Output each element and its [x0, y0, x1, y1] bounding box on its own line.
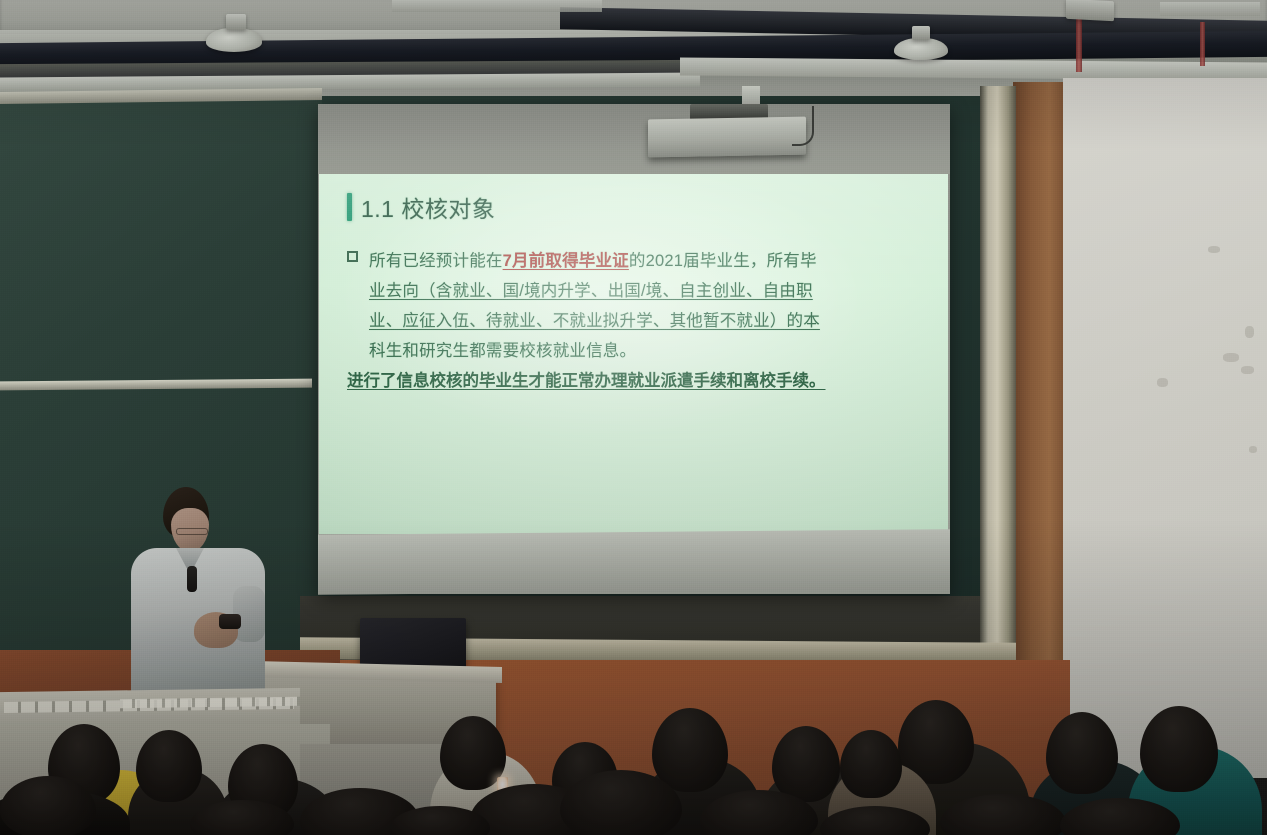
- slide-body-line-2: 业去向（含就业、国/境内升学、出国/境、自主创业、自由职: [347, 276, 925, 306]
- screen-top-band: [318, 104, 950, 174]
- ceiling-lamp-1: [206, 28, 262, 52]
- projection-screen: 1.1 校核对象 所有已经预计能在7月前取得毕业证的2021届毕业生，所有毕 业…: [318, 104, 950, 594]
- lecture-hall-photo: 1.1 校核对象 所有已经预计能在7月前取得毕业证的2021届毕业生，所有毕 业…: [0, 0, 1267, 835]
- audience-head-b5: [840, 730, 902, 798]
- line1-highlight: 7月前取得毕业证: [503, 252, 629, 270]
- ceiling-vent-2: [1160, 2, 1260, 16]
- slide-body-line-1: 所有已经预计能在7月前取得毕业证的2021届毕业生，所有毕: [369, 246, 925, 276]
- line1-post: 的2021届毕业生，所有毕: [629, 252, 817, 270]
- ceiling-duct-right: [1066, 0, 1114, 21]
- slide-body-line-3: 业、应征入伍、待就业、不就业拟升学、其他暂不就业）的本: [347, 306, 925, 336]
- presentation-slide: 1.1 校核对象 所有已经预计能在7月前取得毕业证的2021届毕业生，所有毕 业…: [319, 174, 948, 534]
- square-bullet-icon: [347, 251, 358, 262]
- wall-mark-4: [1241, 366, 1254, 374]
- slide-bullet-block: 所有已经预计能在7月前取得毕业证的2021届毕业生，所有毕 业去向（含就业、国/…: [347, 246, 925, 396]
- wall-mark-6: [1249, 446, 1257, 453]
- wall-mark-1: [1208, 246, 1220, 253]
- audience-head-b2: [1046, 712, 1118, 794]
- slide-title: 1.1 校核对象: [361, 190, 495, 224]
- presenter-glasses: [176, 528, 208, 535]
- slide-content: 1.1 校核对象 所有已经预计能在7月前取得毕业证的2021届毕业生，所有毕 业…: [347, 190, 925, 396]
- board-frame-right: [980, 86, 1016, 676]
- ceiling-vent-1: [392, 0, 602, 12]
- ceiling-fixture-mount-2: [912, 26, 930, 40]
- slide-body-line-5-emphasis: 进行了信息校核的毕业生才能正常办理就业派遣手续和离校手续。: [347, 366, 925, 396]
- audience-head-b6: [652, 708, 728, 792]
- ceiling-lamp-2: [894, 38, 948, 60]
- title-accent-bar: [347, 193, 352, 221]
- audience-head-b11: [136, 730, 202, 802]
- presenter-watch: [219, 614, 241, 629]
- audience-head-b4: [772, 726, 840, 802]
- microphone-icon: [187, 566, 197, 592]
- ceiling-pipe-red-2: [1200, 22, 1205, 66]
- slide-body-line-4: 科生和研究生都需要校核就业信息。: [347, 336, 925, 366]
- screen-bottom-band: [318, 529, 950, 595]
- wall-mark-2: [1245, 326, 1254, 338]
- projector-cable: [792, 106, 814, 146]
- projector-icon: [648, 117, 806, 158]
- audience-head-b3: [1140, 706, 1218, 792]
- slide-title-row: 1.1 校核对象: [347, 190, 925, 224]
- line1-pre: 所有已经预计能在: [369, 252, 503, 270]
- wall-mark-3: [1223, 353, 1239, 362]
- wall-mark-5: [1157, 378, 1168, 387]
- ceiling-fixture-mount-1: [226, 14, 246, 30]
- wall-right: [1063, 78, 1267, 778]
